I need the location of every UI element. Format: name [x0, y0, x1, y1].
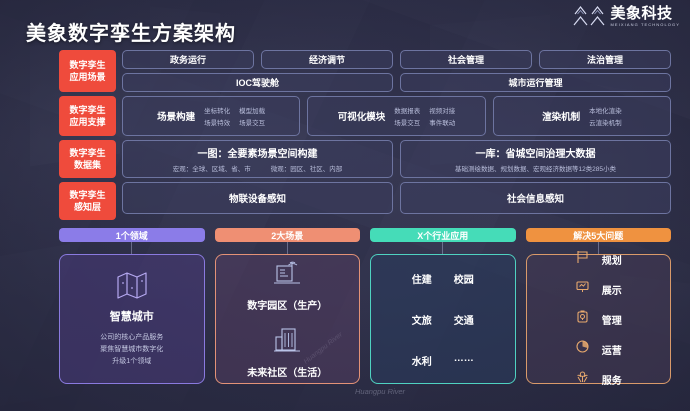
dataset-title: 一库：省城空间治理大数据 [476, 145, 596, 160]
card-connector [442, 242, 443, 254]
industry-tag[interactable]: 水利 [412, 353, 432, 368]
summary-cards: 1个领域 智慧城市 公司的核心产品服务 聚焦智慧城市数字化 升级1个领域 2大场 [59, 228, 671, 384]
row-label-application-scenarios: 数字孪生 应用场景 [59, 50, 116, 92]
row-label-line2: 感知层 [74, 201, 101, 213]
card-body[interactable]: 数字园区（生产） 未来社区（生活） [215, 254, 361, 384]
card-body[interactable]: 智慧城市 公司的核心产品服务 聚焦智慧城市数字化 升级1个领域 [59, 254, 205, 384]
card-item[interactable]: 规划 [575, 249, 622, 269]
card-two-scenarios: 2大场景 数字园区（生产） [215, 228, 361, 384]
scenario-box[interactable]: 社会管理 [400, 50, 532, 69]
card-item[interactable]: 运营 [575, 339, 622, 359]
architecture-diagram: 数字孪生 应用场景 政务运行 经济调节 社会管理 法治管理 IOC驾驶舱 城市运… [59, 50, 671, 224]
module-sub: 模型加载 [239, 105, 265, 115]
row-label-line1: 数字孪生 [69, 147, 105, 159]
card-item-label: 未来社区（生活） [247, 364, 327, 379]
card-item-label: 规划 [602, 252, 622, 267]
card-item-label: 运营 [602, 342, 622, 357]
card-item[interactable]: 服务 [575, 369, 622, 389]
support-module[interactable]: 渲染机制 本地化渲染 云渲染机制 [493, 96, 671, 136]
row-label-line1: 数字孪生 [69, 104, 105, 116]
module-title: 渲染机制 [542, 109, 580, 123]
card-item-label: 管理 [602, 312, 622, 327]
scenario-box[interactable]: IOC驾驶舱 [122, 73, 393, 92]
dataset-sub: 微观：园区、社区、内部 [271, 163, 343, 173]
card-industry-applications: X个行业应用 住建 校园 文旅 交通 水利 …… [370, 228, 516, 384]
logo-text-cn: 美象科技 [610, 6, 680, 21]
arch-row-dataset: 数字孪生 数据集 一图：全要素场景空间构建 宏观：全球、区域、省、市 微观：园区… [59, 140, 671, 178]
logo-text-en: MEIXIANG TECHNOLOGY [610, 23, 680, 27]
card-pill[interactable]: X个行业应用 [370, 228, 516, 242]
dataset-box[interactable]: 一图：全要素场景空间构建 宏观：全球、区域、省、市 微观：园区、社区、内部 [122, 140, 393, 178]
scenario-box[interactable]: 政务运行 [122, 50, 254, 69]
lock-clipboard-icon [575, 309, 590, 329]
row-label-line1: 数字孪生 [69, 189, 105, 201]
perception-box[interactable]: 物联设备感知 [122, 182, 393, 214]
dataset-box[interactable]: 一库：省城空间治理大数据 基础测绘数据、规划数据、宏观经济数据等12类285小类 [400, 140, 671, 178]
service-hands-icon [575, 369, 590, 389]
industry-tag: …… [454, 353, 474, 368]
row-label-dataset: 数字孪生 数据集 [59, 140, 116, 178]
scenario-box[interactable]: 法治管理 [539, 50, 671, 69]
scenario-box[interactable]: 经济调节 [261, 50, 393, 69]
residential-building-icon [272, 326, 302, 359]
row-label-line2: 应用场景 [69, 71, 105, 83]
card-item-label: 展示 [602, 282, 622, 297]
card-connector [287, 242, 288, 254]
module-sub: 数据报表 [394, 105, 420, 115]
module-sub: 事件联动 [429, 117, 455, 127]
row-label-perception: 数字孪生 感知层 [59, 182, 116, 220]
card-item[interactable]: 展示 [575, 279, 622, 299]
module-sub: 视频对接 [429, 105, 455, 115]
industry-tag[interactable]: 文旅 [412, 312, 432, 327]
card-pill[interactable]: 1个领域 [59, 228, 205, 242]
scenario-box[interactable]: 城市运行管理 [400, 73, 671, 92]
card-pill[interactable]: 解决5大问题 [526, 228, 672, 242]
card-body[interactable]: 住建 校园 文旅 交通 水利 …… [370, 254, 516, 384]
industry-tag[interactable]: 住建 [412, 271, 432, 286]
arch-row-perception: 数字孪生 感知层 物联设备感知 社会信息感知 [59, 182, 671, 220]
arch-row-application-support: 数字孪生 应用支撑 场景构建 坐标转化 模型加载 场景特效 场景交互 可视化模块 [59, 96, 671, 136]
card-pill[interactable]: 2大场景 [215, 228, 361, 242]
module-sub: 场景交互 [239, 117, 265, 127]
card-connector [131, 242, 132, 254]
card-title: 智慧城市 [110, 308, 154, 324]
card-one-domain: 1个领域 智慧城市 公司的核心产品服务 聚焦智慧城市数字化 升级1个领域 [59, 228, 205, 384]
presentation-board-icon [575, 279, 590, 299]
industry-tag[interactable]: 交通 [454, 312, 474, 327]
dataset-sub: 基础测绘数据、规划数据、宏观经济数据等12类285小类 [455, 163, 616, 173]
card-body[interactable]: 规划 展示 [526, 254, 672, 384]
support-module[interactable]: 场景构建 坐标转化 模型加载 场景特效 场景交互 [122, 96, 300, 136]
card-description: 公司的核心产品服务 聚焦智慧城市数字化 升级1个领域 [100, 332, 163, 369]
industry-tag[interactable]: 校园 [454, 271, 474, 286]
river-label: Huangpu River [355, 387, 405, 396]
card-desc-line: 公司的核心产品服务 [100, 332, 163, 344]
row-label-line2: 数据集 [74, 159, 101, 171]
arch-row-application-scenarios: 数字孪生 应用场景 政务运行 经济调节 社会管理 法治管理 IOC驾驶舱 城市运… [59, 50, 671, 92]
dataset-title: 一图：全要素场景空间构建 [198, 145, 318, 160]
row-label-line2: 应用支撑 [69, 116, 105, 128]
flag-icon [575, 249, 590, 269]
support-module[interactable]: 可视化模块 数据报表 视频对接 场景交互 事件联动 [307, 96, 485, 136]
card-item[interactable]: 数字园区（生产） [247, 259, 327, 312]
brand-logo: 美象科技 MEIXIANG TECHNOLOGY [573, 5, 680, 27]
map-fold-icon [115, 270, 149, 305]
card-five-problems: 解决5大问题 规划 [526, 228, 672, 384]
page-title: 美象数字孪生方案架构 [26, 17, 236, 46]
card-item-label: 数字园区（生产） [247, 297, 327, 312]
card-desc-line: 聚焦智慧城市数字化 [100, 344, 163, 356]
row-label-line1: 数字孪生 [69, 59, 105, 71]
module-sub: 坐标转化 [204, 105, 230, 115]
card-item[interactable]: 管理 [575, 309, 622, 329]
row-label-application-support: 数字孪生 应用支撑 [59, 96, 116, 136]
pie-chart-icon [575, 339, 590, 359]
dataset-sub: 宏观：全球、区域、省、市 [173, 163, 251, 173]
module-sub: 云渲染机制 [589, 117, 622, 127]
card-item[interactable]: 未来社区（生活） [247, 326, 327, 379]
module-title: 可视化模块 [338, 109, 386, 123]
module-sub: 场景特效 [204, 117, 230, 127]
module-sub: 场景交互 [394, 117, 420, 127]
module-title: 场景构建 [157, 109, 195, 123]
module-sub: 本地化渲染 [589, 105, 622, 115]
card-item-label: 服务 [602, 372, 622, 387]
card-desc-line: 升级1个领域 [100, 356, 163, 368]
perception-box[interactable]: 社会信息感知 [400, 182, 671, 214]
mountain-logo-icon [573, 5, 605, 27]
smart-factory-icon [271, 259, 303, 292]
